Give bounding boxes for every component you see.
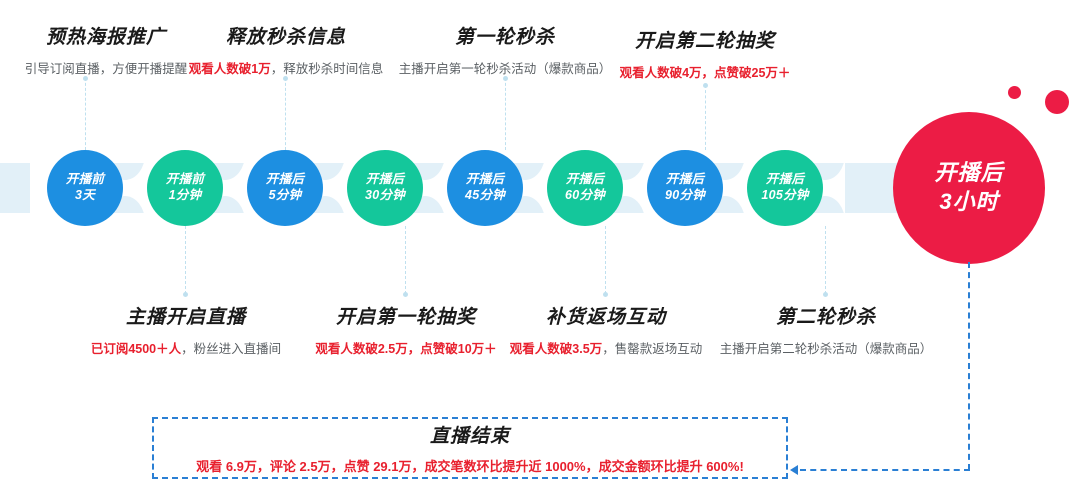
label-highlight: 观看人数破2.5万，点赞破10万＋ [315, 342, 496, 356]
summary-metrics: 观看 6.9万，评论 2.5万，点赞 29.1万，成交笔数环比提升近 1000%… [196, 456, 744, 475]
label-title: 主播开启直播 [75, 302, 297, 329]
node-phase: 开播后 [366, 172, 404, 188]
label-title: 开启第一轮抽奖 [290, 302, 522, 329]
decorative-dot-small [1008, 86, 1021, 99]
node-time: 3小时 [939, 188, 998, 217]
label-tail: ，售罄款返场互动 [602, 342, 702, 356]
label-subtitle: 主播开启第二轮秒杀活动（爆款商品） [706, 338, 946, 357]
node-phase: 开播后 [934, 159, 1003, 188]
node-phase: 开播后 [566, 172, 604, 188]
node-phase: 开播后 [466, 172, 504, 188]
label-subtitle: 已订阅4500＋人，粉丝进入直播间 [75, 338, 297, 357]
summary-title: 直播结束 [430, 421, 510, 448]
label-subtitle: 观看人数破1万，释放秒杀时间信息 [175, 58, 397, 77]
leader-line-bottom-3 [605, 226, 606, 294]
label-title: 释放秒杀信息 [175, 22, 397, 49]
connector-arrowhead-icon [790, 465, 798, 475]
node-phase: 开播前 [66, 172, 104, 188]
timeline-node-final[interactable]: 开播后 3小时 [893, 112, 1045, 264]
label-subtitle: 观看人数破3.5万，售罄款返场互动 [508, 338, 704, 357]
node-phase: 开播前 [166, 172, 204, 188]
label-bottom-4: 第二轮秒杀 主播开启第二轮秒杀活动（爆款商品） [706, 302, 946, 357]
node-time: 105分钟 [761, 188, 808, 204]
label-top-3: 第一轮秒杀 主播开启第一轮秒杀活动（爆款商品） [385, 22, 625, 77]
label-bottom-1: 主播开启直播 已订阅4500＋人，粉丝进入直播间 [75, 302, 297, 357]
node-time: 45分钟 [465, 188, 505, 204]
leader-line-bottom-2 [405, 226, 406, 294]
leader-line-top-1 [85, 78, 86, 150]
label-highlight: 已订阅4500＋人 [91, 342, 181, 356]
label-subtitle: 观看人数破4万，点赞破25万＋ [592, 62, 818, 81]
timeline-node-8[interactable]: 开播后 105分钟 [747, 150, 823, 226]
connector-horizontal [800, 469, 970, 471]
node-phase: 开播后 [266, 172, 304, 188]
label-subtitle: 观看人数破2.5万，点赞破10万＋ [290, 338, 522, 357]
leader-line-bottom-4 [825, 226, 826, 294]
leader-dot-bottom-4 [823, 292, 828, 297]
node-time: 5分钟 [269, 188, 302, 204]
leader-dot-bottom-2 [403, 292, 408, 297]
leader-line-top-3 [505, 78, 506, 150]
connector-vertical [968, 262, 970, 470]
label-tail: ，释放秒杀时间信息 [271, 62, 384, 76]
label-top-2: 释放秒杀信息 观看人数破1万，释放秒杀时间信息 [175, 22, 397, 77]
label-top-4: 开启第二轮抽奖 观看人数破4万，点赞破25万＋ [592, 26, 818, 81]
timeline-node-4[interactable]: 开播后 30分钟 [347, 150, 423, 226]
label-title: 第一轮秒杀 [385, 22, 625, 49]
node-phase: 开播后 [766, 172, 804, 188]
timeline-node-2[interactable]: 开播前 1分钟 [147, 150, 223, 226]
label-highlight: 观看人数破1万 [189, 62, 271, 76]
leader-dot-bottom-3 [603, 292, 608, 297]
leader-line-bottom-1 [185, 226, 186, 294]
label-plain: 主播开启第二轮秒杀活动（爆款商品） [720, 342, 933, 356]
label-subtitle: 主播开启第一轮秒杀活动（爆款商品） [385, 58, 625, 77]
label-title: 补货返场互动 [508, 302, 704, 329]
label-highlight: 观看人数破3.5万 [510, 342, 602, 356]
label-bottom-2: 开启第一轮抽奖 观看人数破2.5万，点赞破10万＋ [290, 302, 522, 357]
leader-line-top-4 [705, 85, 706, 150]
infographic-canvas: 开播前 3天 开播前 1分钟 开播后 5分钟 开播后 30分钟 开播后 45分钟… [0, 0, 1080, 499]
summary-box: 直播结束 观看 6.9万，评论 2.5万，点赞 29.1万，成交笔数环比提升近 … [152, 417, 788, 479]
leader-dot-top-4 [703, 83, 708, 88]
label-tail: ，粉丝进入直播间 [181, 342, 281, 356]
decorative-dot-large [1045, 90, 1069, 114]
timeline-node-1[interactable]: 开播前 3天 [47, 150, 123, 226]
ribbon-segment [0, 163, 30, 213]
node-time: 30分钟 [365, 188, 405, 204]
leader-line-top-2 [285, 78, 286, 150]
timeline-node-6[interactable]: 开播后 60分钟 [547, 150, 623, 226]
timeline-node-3[interactable]: 开播后 5分钟 [247, 150, 323, 226]
leader-dot-bottom-1 [183, 292, 188, 297]
label-title: 第二轮秒杀 [706, 302, 946, 329]
label-highlight: 观看人数破4万，点赞破25万＋ [620, 66, 791, 80]
node-time: 90分钟 [665, 188, 705, 204]
node-time: 60分钟 [565, 188, 605, 204]
label-plain: 引导订阅直播，方便开播提醒 [25, 62, 188, 76]
node-time: 1分钟 [169, 188, 202, 204]
node-phase: 开播后 [666, 172, 704, 188]
node-time: 3天 [75, 188, 95, 204]
label-title: 开启第二轮抽奖 [592, 26, 818, 53]
timeline-node-5[interactable]: 开播后 45分钟 [447, 150, 523, 226]
label-bottom-3: 补货返场互动 观看人数破3.5万，售罄款返场互动 [508, 302, 704, 357]
timeline-node-7[interactable]: 开播后 90分钟 [647, 150, 723, 226]
label-plain: 主播开启第一轮秒杀活动（爆款商品） [399, 62, 612, 76]
